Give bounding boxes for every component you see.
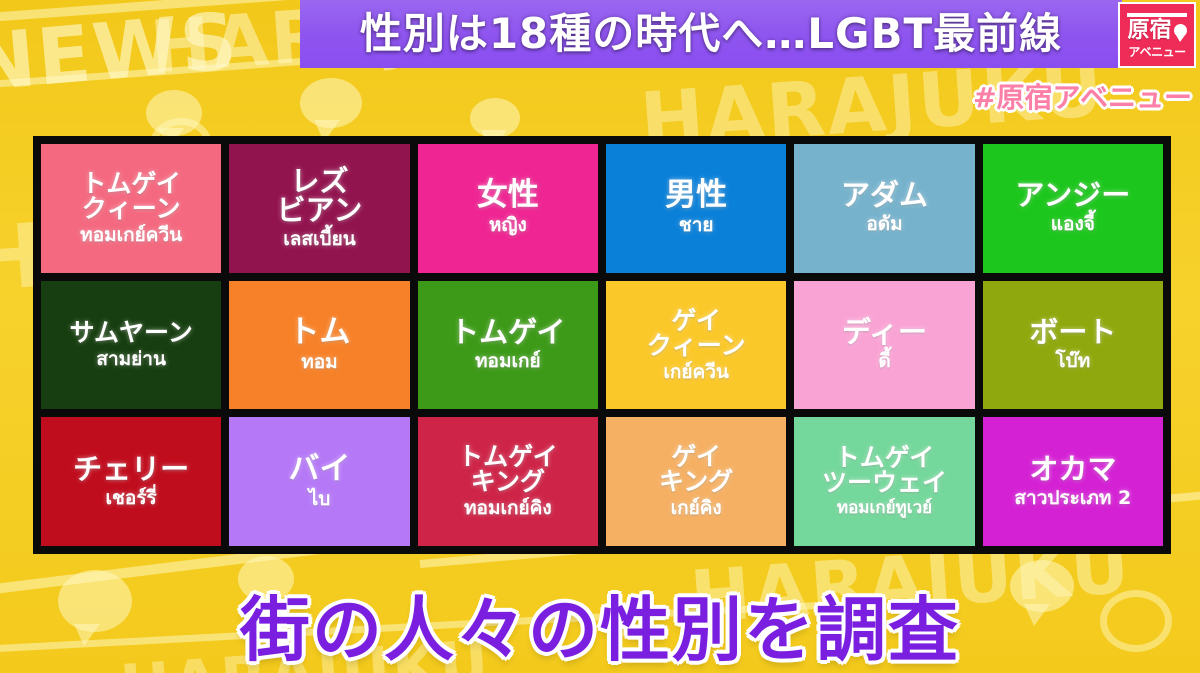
program-logo: 原宿 アベニュー <box>1118 2 1196 68</box>
logo-primary-label: 原宿 <box>1127 20 1171 42</box>
gender-type-thai-label: ชาย <box>679 216 714 236</box>
gender-type-thai-label: สาวประเภท 2 <box>1014 489 1131 509</box>
gender-type-japanese-label: アンジー <box>1015 181 1130 210</box>
gender-type-japanese-label: 女性 <box>477 180 539 211</box>
gender-type-thai-label: ดี้ <box>878 352 890 372</box>
gender-type-card: バイไบ <box>229 417 409 546</box>
gender-type-card: トムゲイทอมเกย์ <box>418 281 598 410</box>
bottom-caption: 街の人々の性別を調査 <box>0 595 1200 665</box>
gender-type-card: 女性หญิง <box>418 144 598 273</box>
gender-type-japanese-label: トムゲイ キング <box>458 444 558 494</box>
headline-bar: 性別は18種の時代へ…LGBT最前線 <box>300 0 1122 68</box>
gender-type-thai-label: ไบ <box>309 490 331 510</box>
gender-type-thai-label: แองจี้ <box>1051 215 1095 235</box>
gender-type-thai-label: อดัม <box>866 215 902 235</box>
gender-type-card: アダムอดัม <box>794 144 974 273</box>
logo-divider <box>1127 13 1187 17</box>
gender-type-card: トムゲイ ツーウェイทอมเกย์ทูเวย์ <box>794 417 974 546</box>
gender-type-thai-label: ทอมเกย์ควีน <box>80 226 182 246</box>
speech-bubble-icon <box>300 78 362 128</box>
headline-text: 性別は18種の時代へ…LGBT最前線 <box>360 13 1062 55</box>
gender-type-japanese-label: 男性 <box>665 180 727 211</box>
gender-types-grid: トムゲイ クィーンทอมเกย์ควีนレズ ビアンเลสเบี้ยน女性หญิ… <box>41 144 1163 546</box>
gender-type-thai-label: โบ๊ท <box>1055 352 1090 372</box>
gender-type-card: トムゲイ キングทอมเกย์คิง <box>418 417 598 546</box>
gender-type-thai-label: ทอมเกย์ <box>475 352 541 372</box>
gender-type-card: アンジーแองจี้ <box>983 144 1163 273</box>
gender-type-thai-label: เกย์ควีน <box>663 363 729 383</box>
gender-type-card: 男性ชาย <box>606 144 786 273</box>
gender-types-panel: トムゲイ クィーンทอมเกย์ควีนレズ ビアンเลสเบี้ยน女性หญิ… <box>33 136 1171 554</box>
gender-type-card: トムทอม <box>229 281 409 410</box>
gender-type-japanese-label: ディー <box>842 318 927 347</box>
gender-type-japanese-label: ゲイ クィーン <box>647 308 746 358</box>
gender-type-japanese-label: バイ <box>288 454 350 485</box>
gender-type-japanese-label: ゲイ キング <box>659 444 733 494</box>
gender-type-japanese-label: サムヤーン <box>70 320 193 345</box>
gender-type-japanese-label: チェリー <box>73 455 189 484</box>
gender-type-card: ゲイ クィーンเกย์ควีน <box>606 281 786 410</box>
gender-type-thai-label: เชอร์รี่ <box>106 489 157 509</box>
gender-type-japanese-label: トム <box>288 317 350 348</box>
gender-type-thai-label: เกย์คิง <box>671 499 722 519</box>
hashtag-label: #原宿アベニュー <box>973 76 1192 116</box>
gender-type-japanese-label: トムゲイ クィーン <box>81 171 181 221</box>
broadcast-screen: NEWS HARAJUKU HARAJUKU HARAJUKU HARAJUKU… <box>0 0 1200 673</box>
speech-bubble-icon <box>470 98 520 138</box>
gender-type-card: サムヤーンสามย่าน <box>41 281 221 410</box>
gender-type-card: ボートโบ๊ท <box>983 281 1163 410</box>
gender-type-card: チェリーเชอร์รี่ <box>41 417 221 546</box>
gender-type-card: レズ ビアンเลสเบี้ยน <box>229 144 409 273</box>
gender-type-thai-label: สามย่าน <box>96 350 166 370</box>
gender-type-card: ゲイ キングเกย์คิง <box>606 417 786 546</box>
gender-type-japanese-label: オカマ <box>1029 455 1116 484</box>
gender-type-thai-label: ทอมเกย์ทูเวย์ <box>837 500 932 518</box>
gender-type-thai-label: ทอมเกย์คิง <box>464 499 552 519</box>
gender-type-japanese-label: トムゲイ <box>450 318 565 347</box>
gender-type-japanese-label: トムゲイ ツーウェイ <box>822 445 947 495</box>
speech-bubble-icon <box>1174 24 1187 37</box>
logo-secondary-label: アベニュー <box>1128 46 1185 58</box>
gender-type-card: ディーดี้ <box>794 281 974 410</box>
gender-type-japanese-label: ボート <box>1029 318 1116 347</box>
gender-type-japanese-label: アダム <box>841 181 928 210</box>
gender-type-japanese-label: レズ ビアン <box>277 167 363 225</box>
gender-type-thai-label: ทอม <box>301 353 337 373</box>
logo-primary-text: 原宿 <box>1127 20 1186 42</box>
gender-type-thai-label: หญิง <box>489 216 527 236</box>
gender-type-card: オカマสาวประเภท 2 <box>983 417 1163 546</box>
gender-type-thai-label: เลสเบี้ยน <box>283 230 355 250</box>
gender-type-card: トムゲイ クィーンทอมเกย์ควีน <box>41 144 221 273</box>
